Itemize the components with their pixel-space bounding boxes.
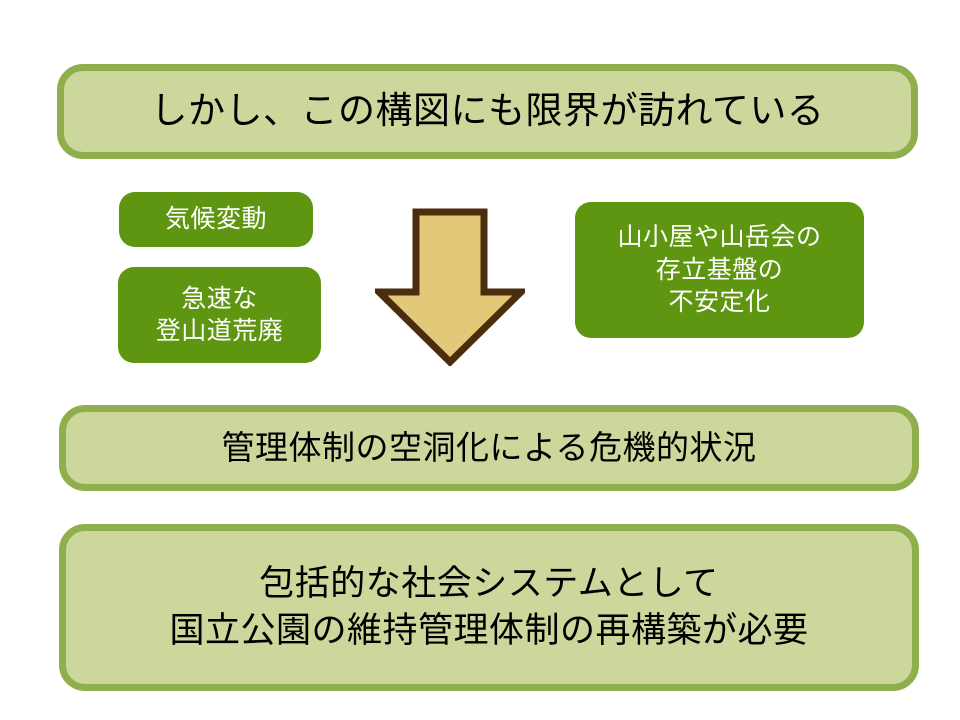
crisis-text: 管理体制の空洞化による危機的状況 [221,426,756,470]
headline-text: しかし、この構図にも限界が訪れている [151,87,825,136]
arrow-down-icon [375,208,525,366]
consequence-line-3: 不安定化 [617,286,821,319]
conclusion-box: 包括的な社会システムとして 国立公園の維持管理体制の再構築が必要 [59,524,919,691]
cause-trail-degradation-text: 急速な 登山道荒廃 [156,283,284,348]
cause-trail-degradation-line-1: 急速な [156,283,284,316]
consequence-line-1: 山小屋や山岳会の [617,221,821,254]
cause-box-trail-degradation: 急速な 登山道荒廃 [118,267,321,363]
cause-trail-degradation-line-2: 登山道荒廃 [156,315,284,348]
consequence-box-hut-instability: 山小屋や山岳会の 存立基盤の 不安定化 [575,202,864,338]
consequence-text: 山小屋や山岳会の 存立基盤の 不安定化 [617,221,821,319]
headline-box: しかし、この構図にも限界が訪れている [57,64,918,159]
slide-canvas: しかし、この構図にも限界が訪れている 気候変動 急速な 登山道荒廃 山小屋や山岳… [0,0,960,720]
cause-climate-change-line-1: 気候変動 [165,203,267,236]
cause-box-climate-change: 気候変動 [119,192,313,247]
consequence-line-2: 存立基盤の [617,254,821,287]
crisis-box: 管理体制の空洞化による危機的状況 [59,405,919,491]
conclusion-line-2: 国立公園の維持管理体制の再構築が必要 [169,608,808,654]
arrow-down-shape [379,212,521,362]
conclusion-line-1: 包括的な社会システムとして [169,561,808,607]
cause-climate-change-text: 気候変動 [165,203,267,236]
conclusion-text: 包括的な社会システムとして 国立公園の維持管理体制の再構築が必要 [169,561,808,653]
